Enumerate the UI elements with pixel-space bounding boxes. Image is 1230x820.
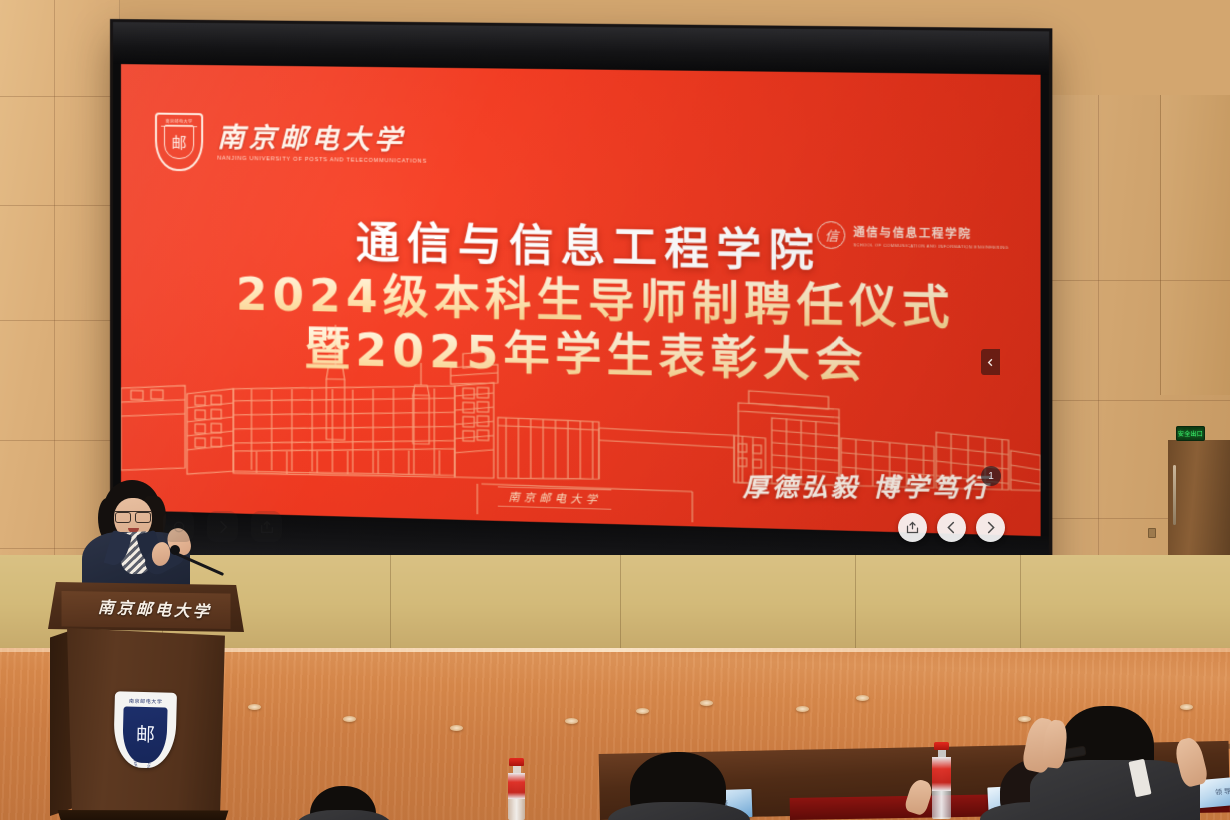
share-icon [905,520,920,535]
slide-controls [898,513,1005,542]
next-slide-button[interactable] [976,513,1005,542]
water-bottle [932,742,951,820]
share-button[interactable] [898,513,927,542]
circle-icon [171,519,187,535]
water-bottle [508,758,525,820]
bottle-neck [938,750,946,757]
microphone-head [170,545,180,555]
bottle-cap [934,742,949,750]
podium-label: 南京邮电大学 [98,593,219,622]
wall-seam [54,0,55,640]
university-logo: 南京邮电大学 邮 南京邮电大学 NANJING UNIVERSITY OF PO… [155,113,427,175]
bottle-label [932,757,951,791]
wall-socket [1148,528,1156,538]
audience-shoulders [1030,760,1200,820]
namecard-text: 领导 [1215,786,1230,798]
ghost-dot-button[interactable] [163,511,194,542]
campus-gate-sign: 南京邮电大学 [498,486,611,509]
bottle-neck [513,766,521,773]
bottle-label [508,773,525,799]
university-name-cn: 南京邮电大学 [217,124,427,154]
crest-glyph: 邮 [164,125,194,160]
wall-seam [1098,95,1099,565]
exit-sign-label: 安全出口 [1178,429,1203,438]
chevron-right-icon [215,519,231,535]
chevron-right-icon [983,520,998,535]
led-screen[interactable]: 南京邮电大学 邮 南京邮电大学 NANJING UNIVERSITY OF PO… [113,22,1049,590]
photo-scene: 安全出口 南京邮电大学 邮 南京邮电大学 NANJING UNIVERSITY … [0,0,1230,820]
page-badge[interactable]: 1 [981,466,1001,486]
bottle-body [508,773,525,820]
ghost-play-button[interactable] [207,511,238,542]
wall-panel-right-upper [1160,95,1230,395]
speaker-glasses [114,511,152,520]
door-handle[interactable] [1173,465,1176,525]
prev-slide-button[interactable] [937,513,966,542]
university-crest-icon: 南京邮电大学 邮 [155,113,203,172]
share-icon [259,519,275,535]
slide-slogan: 厚德弘毅 博学笃行 [742,467,992,504]
slide-canvas: 南京邮电大学 邮 南京邮电大学 NANJING UNIVERSITY OF PO… [121,64,1041,536]
ghost-share-button[interactable] [251,511,282,542]
university-name-en: NANJING UNIVERSITY OF POSTS AND TELECOMM… [217,155,427,164]
bottle-cap [509,758,524,766]
collapse-panel-tab[interactable] [981,349,1000,375]
chevron-left-icon [985,357,996,368]
emergency-exit-sign: 安全出口 [1176,426,1205,441]
ghost-slide-controls [163,511,282,542]
foreground-audience: 代表 嘉宾 领导 [0,670,1230,820]
bottle-body [932,757,951,819]
chevron-left-icon [944,520,959,535]
